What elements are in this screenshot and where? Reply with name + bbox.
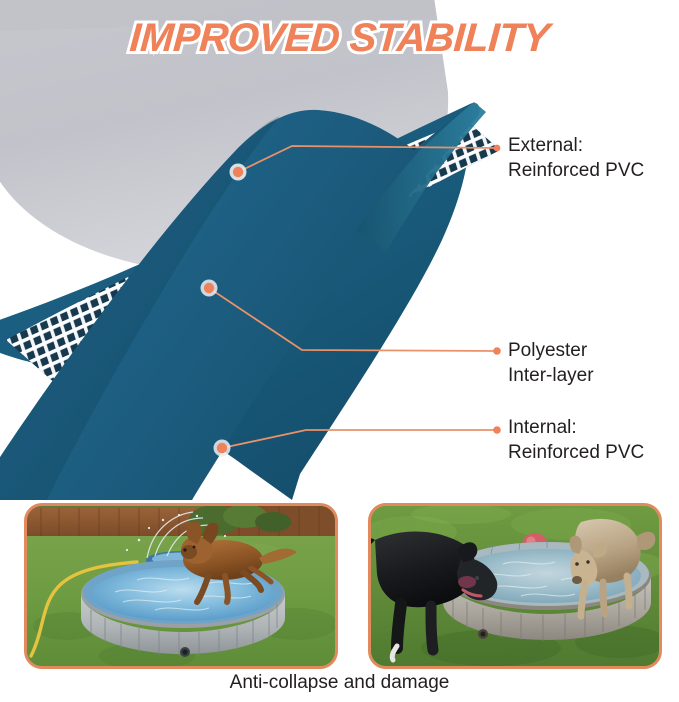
callout-internal: Internal: Reinforced PVC: [508, 415, 644, 465]
callout-internal-line1: Internal:: [508, 415, 644, 440]
photo-right-canvas: [371, 506, 659, 666]
photo-dog-jumping-into-pool: [24, 503, 338, 669]
page-title-outline: IMPROVED STABILITY: [0, 16, 679, 61]
callout-polyester-line1: Polyester: [508, 338, 594, 363]
footer-caption: Anti-collapse and damage: [0, 672, 679, 694]
callout-external-line2: Reinforced PVC: [508, 158, 644, 183]
infographic-root: IMPROVED STABILITY IMPROVED STABILITY Ex…: [0, 0, 679, 702]
callout-external-line1: External:: [508, 133, 644, 158]
callout-internal-line2: Reinforced PVC: [508, 440, 644, 465]
callout-polyester: Polyester Inter-layer: [508, 338, 594, 388]
callout-external: External: Reinforced PVC: [508, 133, 644, 183]
photo-left-canvas: [27, 506, 335, 666]
callout-polyester-line2: Inter-layer: [508, 363, 594, 388]
photo-two-dogs-at-pool: [368, 503, 662, 669]
